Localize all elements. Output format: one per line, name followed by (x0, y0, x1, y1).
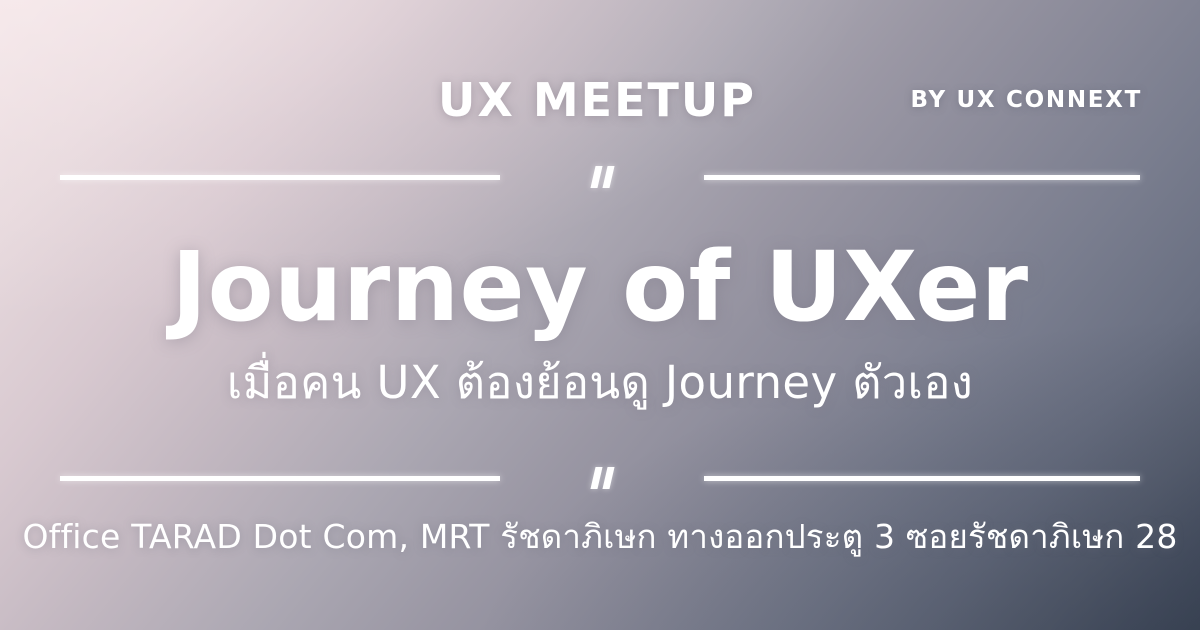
event-title: Journey of UXer (0, 228, 1200, 346)
divider-bottom (60, 465, 1140, 491)
divider-rule-left-bottom (60, 476, 500, 481)
quote-bar-first (590, 467, 602, 489)
organizer-byline: BY UX CONNEXT (910, 84, 1142, 116)
event-subtitle: เมื่อคน UX ต้องย้อนดู Journey ตัวเอง (0, 352, 1200, 414)
divider-rule-left (60, 175, 500, 180)
poster-header: UX MEETUP BY UX CONNEXT (0, 72, 1200, 134)
quote-ornament-icon-bottom (582, 465, 622, 491)
divider-rule-right-bottom (704, 476, 1140, 481)
divider-rule-right (704, 175, 1140, 180)
venue-address: Office TARAD Dot Com, MRT รัชดาภิเษก ทาง… (0, 513, 1200, 561)
quote-bar-second (602, 166, 614, 188)
event-poster: UX MEETUP BY UX CONNEXT Journey of UXer … (0, 0, 1200, 630)
poster-content: UX MEETUP BY UX CONNEXT Journey of UXer … (0, 0, 1200, 630)
quote-bar-first (590, 166, 602, 188)
quote-ornament-icon (582, 164, 622, 190)
divider-top (60, 164, 1140, 190)
quote-bar-second (602, 467, 614, 489)
